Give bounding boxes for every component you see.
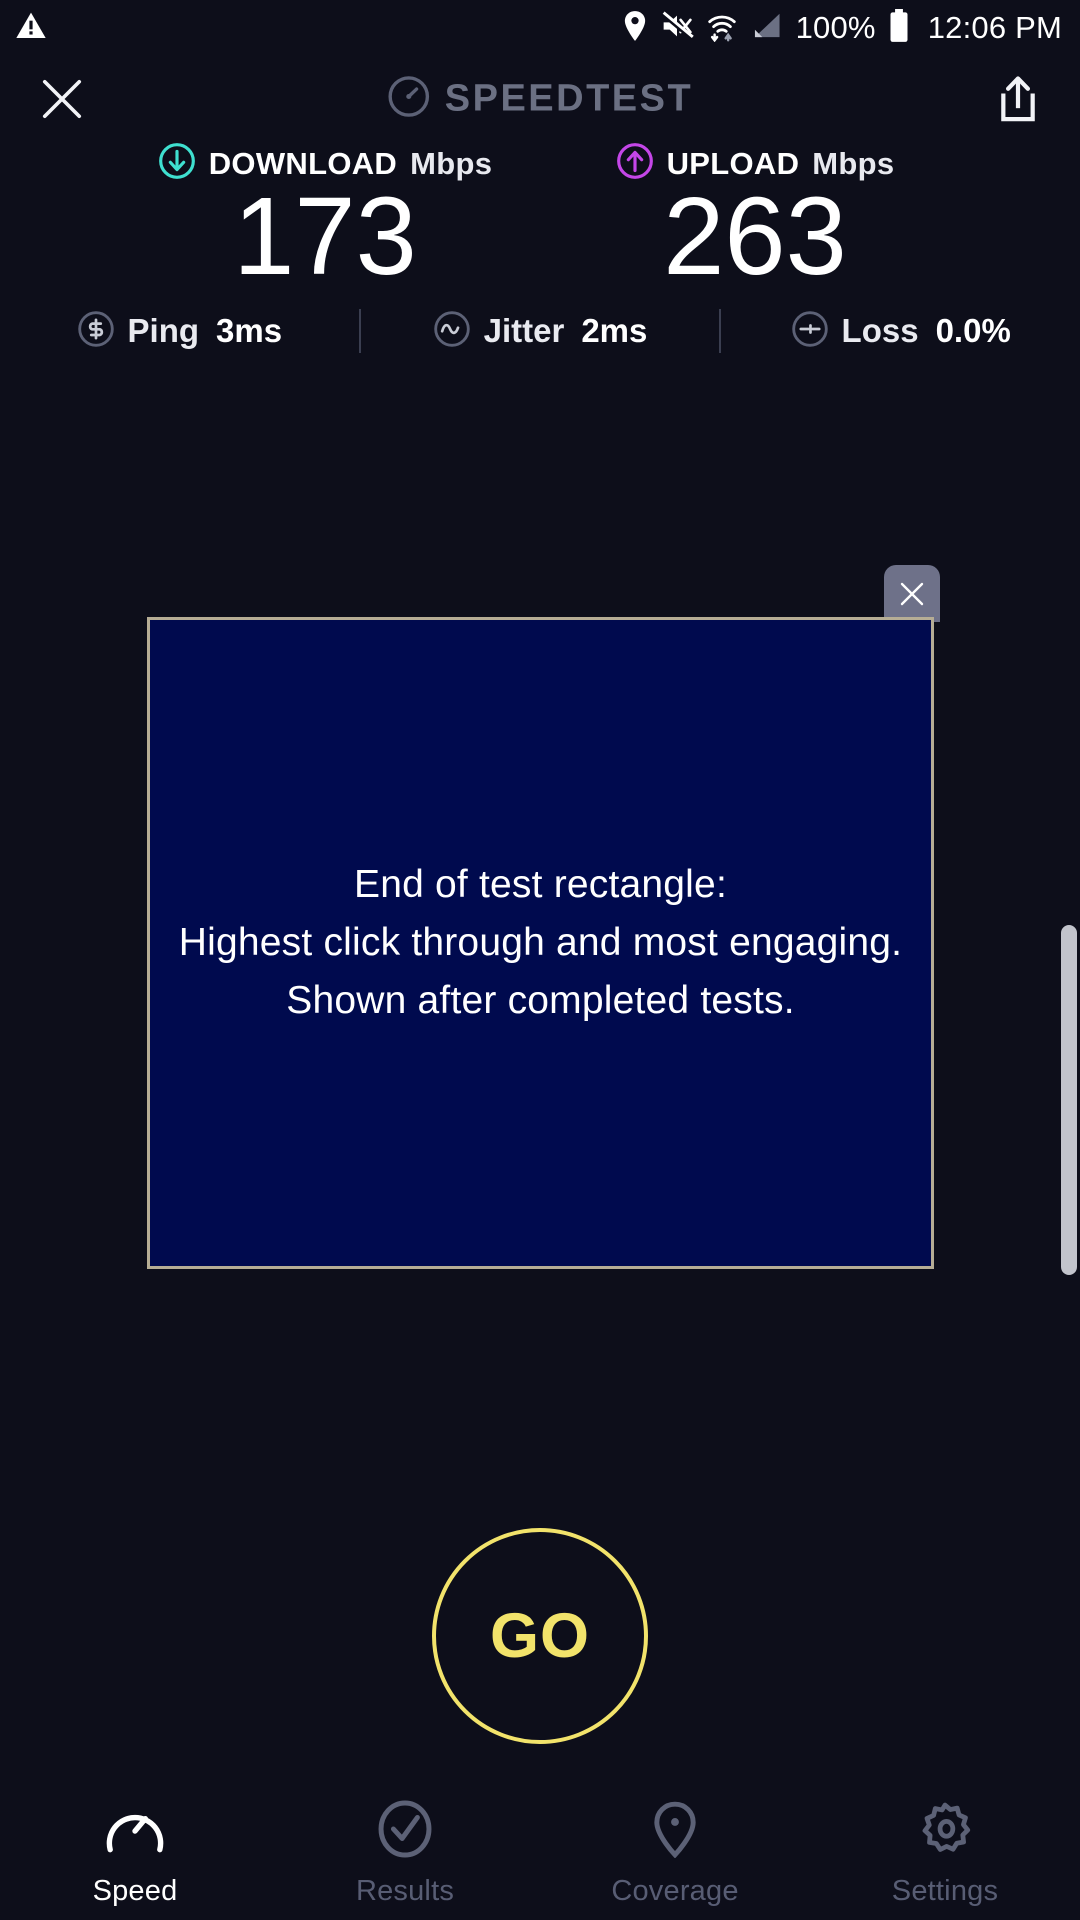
loss-label: Loss bbox=[842, 312, 919, 350]
ad-text-line-3: Shown after completed tests. bbox=[179, 972, 902, 1030]
nav-item-results[interactable]: Results bbox=[270, 1800, 540, 1908]
nav-label-speed: Speed bbox=[93, 1875, 178, 1908]
share-button[interactable] bbox=[990, 70, 1046, 128]
go-button-label: GO bbox=[490, 1600, 590, 1672]
nav-label-coverage: Coverage bbox=[611, 1875, 738, 1908]
ping-jitter-loss-row: Ping 3ms Jitter 2ms bbox=[0, 305, 1080, 357]
ad-text-line-2: Highest click through and most engaging. bbox=[179, 914, 902, 972]
jitter-metric: Jitter 2ms bbox=[361, 310, 720, 353]
ad-text-line-1: End of test rectangle: bbox=[179, 856, 902, 914]
status-bar-left bbox=[14, 10, 48, 47]
download-value: 173 bbox=[233, 181, 417, 293]
speedtest-app-screen: 100% 12:06 PM bbox=[0, 0, 1080, 1920]
loss-circle-icon bbox=[791, 310, 829, 353]
nav-label-results: Results bbox=[356, 1875, 454, 1908]
speedometer-icon bbox=[387, 75, 431, 124]
ad-text: End of test rectangle: Highest click thr… bbox=[179, 856, 902, 1029]
nav-label-settings: Settings bbox=[892, 1875, 998, 1908]
ping-value: 3ms bbox=[216, 312, 282, 350]
jitter-value: 2ms bbox=[581, 312, 647, 350]
battery-percent-label: 100% bbox=[796, 10, 876, 46]
gear-icon bbox=[914, 1800, 976, 1863]
loss-value: 0.0% bbox=[936, 312, 1011, 350]
speedometer-icon bbox=[104, 1800, 166, 1863]
arrow-up-circle-icon bbox=[616, 142, 654, 185]
ad-close-button[interactable] bbox=[884, 565, 940, 622]
ping-metric: Ping 3ms bbox=[0, 310, 359, 353]
bottom-navigation: Speed Results Coverage bbox=[0, 1788, 1080, 1920]
download-upload-row: DOWNLOAD Mbps 173 UPLOAD Mbps bbox=[0, 142, 1080, 293]
status-bar-right: 100% 12:06 PM bbox=[622, 9, 1062, 48]
ping-circle-icon bbox=[77, 310, 115, 353]
advertisement-banner[interactable]: End of test rectangle: Highest click thr… bbox=[147, 617, 934, 1269]
clock-label: 12:06 PM bbox=[928, 10, 1062, 46]
nav-item-speed[interactable]: Speed bbox=[0, 1800, 270, 1908]
nav-item-coverage[interactable]: Coverage bbox=[540, 1800, 810, 1908]
location-pin-icon bbox=[622, 10, 648, 47]
arrow-down-circle-icon bbox=[158, 142, 196, 185]
go-button[interactable]: GO bbox=[432, 1528, 648, 1744]
check-circle-icon bbox=[374, 1800, 436, 1863]
wifi-icon bbox=[706, 10, 738, 47]
upload-metric: UPLOAD Mbps 263 bbox=[590, 142, 920, 293]
status-bar: 100% 12:06 PM bbox=[0, 0, 1080, 56]
volume-muted-icon bbox=[660, 10, 694, 47]
loss-metric: Loss 0.0% bbox=[721, 310, 1080, 353]
brand-title: SPEEDTEST bbox=[445, 78, 693, 121]
jitter-circle-icon bbox=[433, 310, 471, 353]
ping-label: Ping bbox=[128, 312, 200, 350]
download-metric: DOWNLOAD Mbps 173 bbox=[160, 142, 490, 293]
warning-triangle-icon bbox=[14, 10, 48, 47]
map-pin-icon bbox=[644, 1800, 706, 1863]
jitter-label: Jitter bbox=[484, 312, 565, 350]
vertical-scrollbar[interactable] bbox=[1061, 925, 1077, 1275]
download-unit: Mbps bbox=[410, 146, 492, 182]
app-bar: SPEEDTEST bbox=[0, 56, 1080, 142]
results-summary: DOWNLOAD Mbps 173 UPLOAD Mbps bbox=[0, 142, 1080, 293]
close-button[interactable] bbox=[34, 71, 90, 127]
battery-full-icon bbox=[888, 9, 910, 48]
brand: SPEEDTEST bbox=[387, 75, 693, 124]
upload-value: 263 bbox=[663, 181, 847, 293]
nav-item-settings[interactable]: Settings bbox=[810, 1800, 1080, 1908]
cellular-signal-icon bbox=[750, 10, 782, 47]
